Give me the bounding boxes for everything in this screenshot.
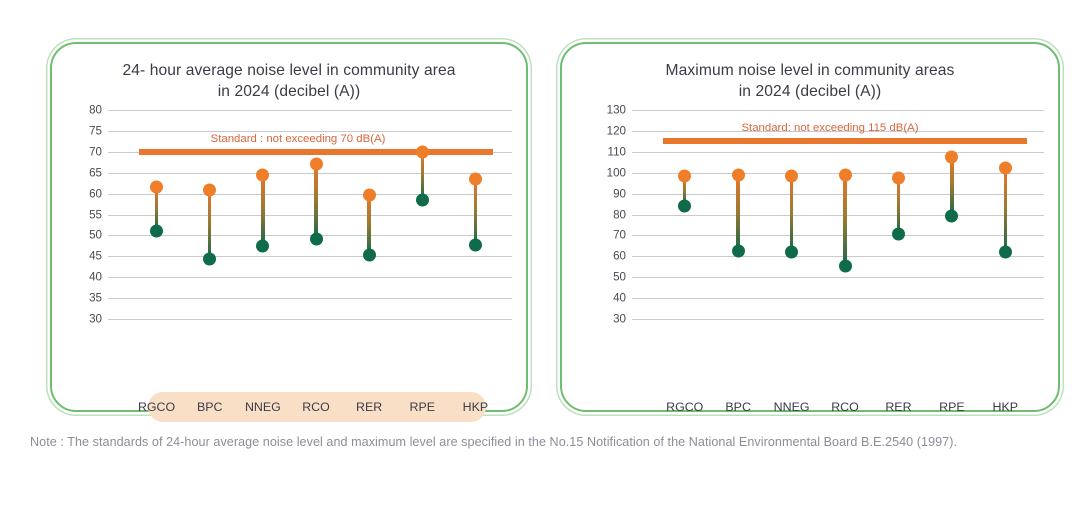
gridline [632, 298, 1044, 299]
min-value-dot [732, 245, 745, 258]
chart-card-average-noise: 24- hour average noise level in communit… [50, 42, 528, 412]
y-axis-tick-label: 80 [89, 104, 102, 117]
gridline [632, 256, 1044, 257]
max-value-dot [785, 169, 798, 182]
chart-title-average-noise: 24- hour average noise level in communit… [52, 60, 526, 102]
max-value-dot [150, 180, 163, 193]
range-stem [208, 190, 211, 259]
max-value-dot [256, 168, 269, 181]
min-value-dot [945, 209, 958, 222]
category-label-bpc: BPC [725, 400, 750, 414]
gridline [108, 277, 512, 278]
max-value-dot [363, 188, 376, 201]
min-value-dot [203, 253, 216, 266]
chart-title-maximum-noise: Maximum noise level in community areas i… [562, 60, 1058, 102]
y-axis-tick-label: 120 [607, 124, 626, 137]
category-label-rer: RER [885, 400, 911, 414]
y-axis-tick-label: 70 [89, 145, 102, 158]
standard-threshold-line [663, 138, 1028, 144]
y-axis-tick-label: 80 [613, 208, 626, 221]
gridline [108, 110, 512, 111]
gridline [632, 152, 1044, 153]
gridline [108, 215, 512, 216]
min-value-dot [785, 246, 798, 259]
y-axis-tick-label: 60 [613, 250, 626, 263]
category-axis-average-noise: RGCOBPCNNEGRCORERRPEHKP [148, 392, 486, 422]
y-axis-tick-label: 100 [607, 166, 626, 179]
chart-title-line-1: Maximum noise level in community areas [562, 60, 1058, 81]
category-label-rco: RCO [831, 400, 859, 414]
range-stem [261, 175, 264, 246]
category-label-rer: RER [356, 400, 382, 414]
category-label-rgco: RGCO [666, 400, 703, 414]
y-axis-tick-label: 65 [89, 166, 102, 179]
gridline [108, 256, 512, 257]
y-axis-ticks-maximum-noise: 13012011010090807060504030 [588, 110, 626, 328]
y-axis-tick-label: 130 [607, 104, 626, 117]
category-label-rco: RCO [302, 400, 330, 414]
gridline [632, 235, 1044, 236]
gridline [108, 298, 512, 299]
range-stem [790, 176, 793, 252]
range-stem [367, 195, 370, 255]
footnote: Note : The standards of 24-hour average … [30, 435, 957, 449]
max-value-dot [203, 184, 216, 197]
gridline [632, 319, 1044, 320]
gridline [632, 194, 1044, 195]
max-value-dot [999, 161, 1012, 174]
gridline [632, 277, 1044, 278]
y-axis-tick-label: 40 [89, 271, 102, 284]
range-stem [314, 164, 317, 240]
gridline [632, 215, 1044, 216]
min-value-dot [469, 239, 482, 252]
gridline [108, 194, 512, 195]
range-stem [950, 157, 953, 216]
gridline [108, 173, 512, 174]
min-value-dot [256, 240, 269, 253]
standard-threshold-label: Standard: not exceeding 115 dB(A) [741, 122, 918, 134]
y-axis-tick-label: 50 [613, 271, 626, 284]
category-label-hkp: HKP [463, 400, 488, 414]
gridlines-maximum-noise: Standard: not exceeding 115 dB(A) [632, 110, 1044, 328]
max-value-dot [469, 173, 482, 186]
min-value-dot [310, 233, 323, 246]
range-stem [843, 175, 846, 266]
chart-title-line-1: 24- hour average noise level in communit… [52, 60, 526, 81]
min-value-dot [150, 225, 163, 238]
range-stem [474, 179, 477, 245]
max-value-dot [416, 145, 429, 158]
max-value-dot [945, 151, 958, 164]
chart-title-line-2: in 2024 (decibel (A)) [52, 81, 526, 102]
gridline [632, 110, 1044, 111]
chart-card-maximum-noise: Maximum noise level in community areas i… [560, 42, 1060, 412]
y-axis-tick-label: 110 [608, 145, 626, 158]
y-axis-ticks-average-noise: 8075706560555045403530 [64, 110, 102, 328]
category-label-hkp: HKP [993, 400, 1018, 414]
range-stem [736, 175, 739, 251]
plot-area-maximum-noise: 13012011010090807060504030 Standard: not… [562, 110, 1058, 328]
min-value-dot [363, 248, 376, 261]
category-label-nneg: NNEG [774, 400, 810, 414]
category-label-rpe: RPE [410, 400, 435, 414]
range-stem [1004, 168, 1007, 252]
max-value-dot [678, 170, 691, 183]
min-value-dot [839, 260, 852, 273]
min-value-dot [892, 227, 905, 240]
min-value-dot [678, 199, 691, 212]
y-axis-tick-label: 30 [613, 313, 626, 326]
max-value-dot [839, 168, 852, 181]
category-label-nneg: NNEG [245, 400, 281, 414]
category-label-rgco: RGCO [138, 400, 175, 414]
y-axis-tick-label: 90 [613, 187, 626, 200]
gridline [108, 131, 512, 132]
y-axis-tick-label: 60 [89, 187, 102, 200]
standard-threshold-line [139, 149, 494, 155]
standard-threshold-label: Standard : not exceeding 70 dB(A) [211, 133, 386, 145]
gridlines-average-noise: Standard : not exceeding 70 dB(A) [108, 110, 512, 328]
y-axis-tick-label: 70 [613, 229, 626, 242]
min-value-dot [416, 193, 429, 206]
y-axis-tick-label: 35 [89, 292, 102, 305]
gridline [108, 319, 512, 320]
max-value-dot [732, 168, 745, 181]
max-value-dot [310, 157, 323, 170]
y-axis-tick-label: 30 [89, 313, 102, 326]
chart-title-line-2: in 2024 (decibel (A)) [562, 81, 1058, 102]
chart-page: 24- hour average noise level in communit… [0, 0, 1080, 507]
range-stem [897, 178, 900, 233]
y-axis-tick-label: 45 [89, 250, 102, 263]
max-value-dot [892, 172, 905, 185]
y-axis-tick-label: 50 [89, 229, 102, 242]
y-axis-tick-label: 55 [89, 208, 102, 221]
min-value-dot [999, 245, 1012, 258]
category-label-rpe: RPE [939, 400, 964, 414]
y-axis-tick-label: 75 [89, 124, 102, 137]
plot-area-average-noise: 8075706560555045403530 Standard : not ex… [52, 110, 526, 328]
y-axis-tick-label: 40 [613, 292, 626, 305]
category-label-bpc: BPC [197, 400, 222, 414]
